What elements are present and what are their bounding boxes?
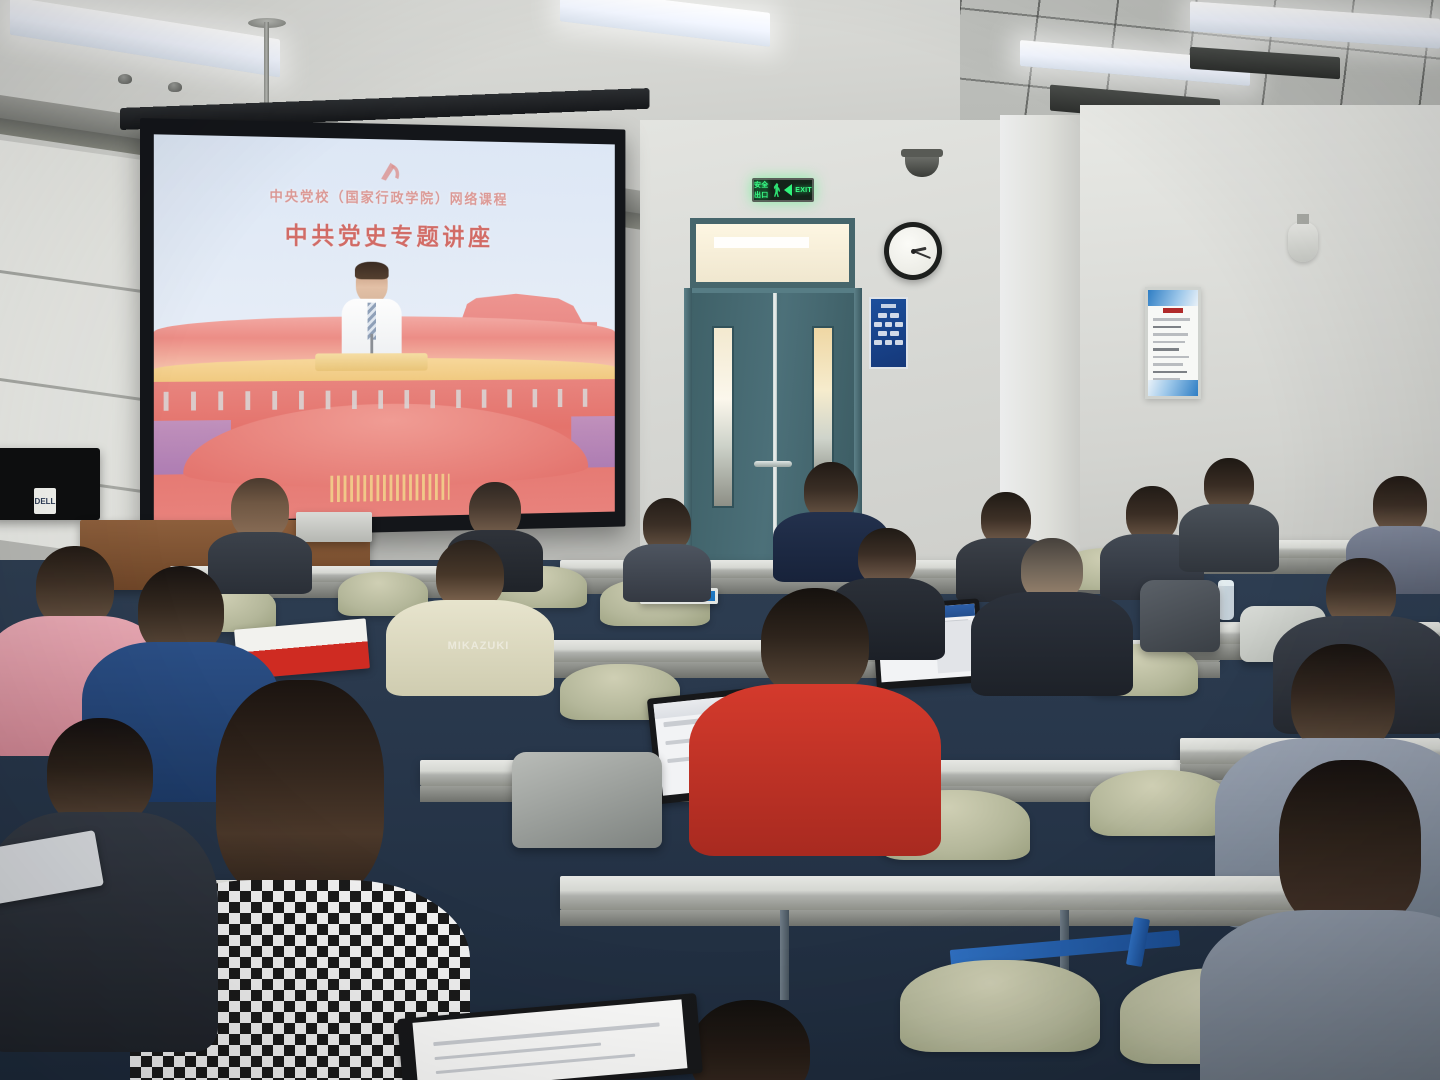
smoke-detector-icon xyxy=(1288,222,1318,262)
attendee-person xyxy=(1220,760,1440,1080)
slide-title: 中共党史专题讲座 xyxy=(285,215,494,251)
attendee-person xyxy=(1182,458,1276,570)
sprinkler-head-icon xyxy=(168,82,182,92)
speaker-hair xyxy=(355,262,389,280)
jacket-text: MIKAZUKI xyxy=(448,640,510,652)
notice-board-banner-bottom xyxy=(1148,380,1198,396)
classroom-scene: 中央党校（国家行政学院）网络课程 中共党史专题讲座 安全出口 EXIT xyxy=(0,0,1440,1080)
notice-board-title xyxy=(1163,308,1182,313)
sprinkler-head-icon xyxy=(118,74,132,84)
backpack[interactable] xyxy=(512,752,662,848)
speaker-podium xyxy=(315,353,427,371)
attendee-person xyxy=(984,538,1120,690)
slide-speaker-figure xyxy=(341,264,403,381)
door-glass-panel xyxy=(712,326,734,508)
core-values-poster xyxy=(869,297,908,369)
transom-window xyxy=(690,218,855,288)
projection-screen[interactable]: 中央党校（国家行政学院）网络课程 中共党史专题讲座 xyxy=(140,118,625,538)
attendee-person: MIKAZUKI xyxy=(400,540,540,690)
exit-sign-label-cn: 安全出口 xyxy=(754,180,770,200)
chair-back[interactable] xyxy=(900,960,1100,1052)
ccp-emblem-icon xyxy=(375,158,407,188)
exit-sign-label-en: EXIT xyxy=(795,187,812,194)
projection-screen-surface: 中央党校（国家行政学院）网络课程 中共党史专题讲座 xyxy=(154,134,615,521)
attendee-person xyxy=(700,588,930,848)
arrow-right-icon xyxy=(784,184,792,196)
desk-row-near xyxy=(560,876,1320,910)
slide-footer-decoration xyxy=(330,474,450,503)
chair-back[interactable] xyxy=(1090,770,1230,836)
slide-subtitle: 中央党校（国家行政学院）网络课程 xyxy=(269,187,508,210)
clock-center-pin xyxy=(911,249,916,254)
running-man-icon xyxy=(773,183,781,197)
wall-notice-board xyxy=(1145,287,1201,399)
water-bottle[interactable] xyxy=(1218,580,1234,620)
dell-logo: DELL xyxy=(34,488,56,514)
dell-monitor[interactable]: DELL xyxy=(0,448,100,520)
emergency-exit-sign: 安全出口 EXIT xyxy=(752,178,814,202)
wall-clock xyxy=(884,222,942,280)
wall-column xyxy=(1000,115,1080,545)
clock-face xyxy=(889,227,937,275)
backpack[interactable] xyxy=(1140,580,1220,652)
notice-board-banner-top xyxy=(1148,290,1198,306)
attendee-person xyxy=(628,498,706,596)
